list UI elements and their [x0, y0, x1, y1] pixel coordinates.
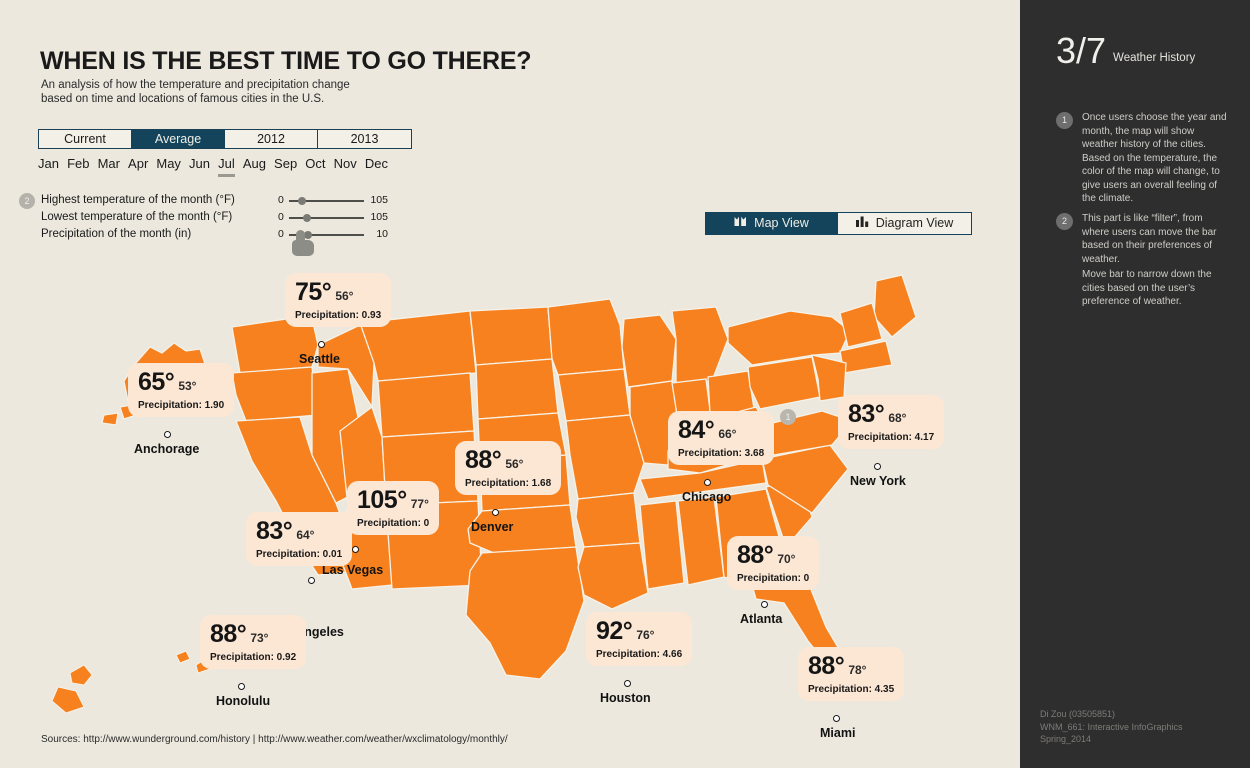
city-low-temp: 76°	[636, 628, 654, 642]
city-marker-dot	[833, 715, 840, 722]
city-new-york[interactable]: 83°68° Precipitation: 4.17 New York	[838, 395, 944, 449]
weather-card[interactable]: 92°76° Precipitation: 4.66	[586, 612, 692, 666]
month-mar[interactable]: Mar	[98, 156, 120, 177]
slider-high-temp-min: 0	[278, 192, 284, 209]
city-high-temp: 88°	[808, 652, 844, 680]
slider-low-temp-max: 105	[370, 209, 388, 226]
slider-low-temp[interactable]: 0 105	[278, 209, 388, 226]
city-marker-dot	[704, 479, 711, 486]
weather-card[interactable]: 83°64° Precipitation: 0.01	[246, 512, 352, 566]
sidebar-note-2: 2 This part is like “filter”, from where…	[1056, 212, 1231, 266]
month-may[interactable]: May	[156, 156, 181, 177]
city-label: Atlanta	[740, 612, 782, 626]
state-wi	[622, 315, 676, 387]
weather-card[interactable]: 105°77° Precipitation: 0	[347, 481, 439, 535]
state-mn	[548, 299, 624, 375]
slider-precipitation-max: 10	[376, 226, 388, 243]
step-badge-1: 1	[780, 409, 796, 425]
state-pa	[748, 357, 820, 409]
city-low-temp: 73°	[250, 631, 268, 645]
card-temps: 88°70°	[737, 543, 809, 568]
state-ms	[640, 501, 684, 589]
city-high-temp: 92°	[596, 617, 632, 645]
city-low-temp: 78°	[848, 663, 866, 677]
city-low-temp: 66°	[718, 427, 736, 441]
state-mo	[566, 415, 644, 499]
note-badge-1: 1	[1056, 112, 1073, 129]
city-precipitation: Precipitation: 0	[357, 518, 429, 529]
state-or	[232, 367, 318, 421]
city-precipitation: Precipitation: 0.01	[256, 549, 342, 560]
slider-high-temp-max: 105	[370, 192, 388, 209]
slider-high-temp-knob[interactable]	[298, 197, 306, 205]
weather-card[interactable]: 88°78° Precipitation: 4.35	[798, 647, 904, 701]
city-seattle[interactable]: 75°56° Precipitation: 0.93 Seattle	[285, 273, 391, 327]
state-mi	[672, 307, 728, 383]
state-ar	[576, 493, 640, 547]
city-high-temp: 83°	[256, 517, 292, 545]
city-low-temp: 77°	[411, 497, 429, 511]
city-label: Chicago	[682, 490, 731, 504]
filter-label-precipitation: Precipitation of the month (in)	[41, 226, 191, 243]
weather-card[interactable]: 75°56° Precipitation: 0.93	[285, 273, 391, 327]
slider-low-temp-track[interactable]	[289, 217, 364, 219]
month-jan[interactable]: Jan	[38, 156, 59, 177]
month-apr[interactable]: Apr	[128, 156, 148, 177]
tab-average[interactable]: Average	[132, 130, 225, 148]
weather-card[interactable]: 88°56° Precipitation: 1.68	[455, 441, 561, 495]
city-anchorage[interactable]: 65°53° Precipitation: 1.90 Anchorage	[128, 363, 234, 417]
city-marker-dot	[164, 431, 171, 438]
tab-diagram-view[interactable]: Diagram View	[837, 213, 971, 234]
weather-card[interactable]: 65°53° Precipitation: 1.90	[128, 363, 234, 417]
month-nov[interactable]: Nov	[334, 156, 357, 177]
note-text-2: This part is like “filter”, from where u…	[1082, 212, 1231, 266]
step-badge-2: 2	[19, 193, 35, 209]
city-low-temp: 56°	[505, 457, 523, 471]
city-precipitation: Precipitation: 1.90	[138, 400, 224, 411]
city-low-temp: 56°	[335, 289, 353, 303]
weather-card[interactable]: 88°73° Precipitation: 0.92	[200, 615, 306, 669]
note-text-3: Move bar to narrow down the cities based…	[1082, 268, 1231, 309]
city-high-temp: 88°	[465, 446, 501, 474]
city-precipitation: Precipitation: 4.66	[596, 649, 682, 660]
state-ia	[558, 369, 630, 421]
view-toggle: Map View Diagram View	[705, 212, 972, 235]
city-low-temp: 68°	[888, 411, 906, 425]
tab-current[interactable]: Current	[39, 130, 132, 148]
filter-label-high-temp: Highest temperature of the month (°F)	[41, 192, 235, 209]
city-chicago[interactable]: 84°66° Precipitation: 3.68 Chicago	[668, 411, 774, 465]
city-houston[interactable]: 92°76° Precipitation: 4.66 Houston	[586, 612, 692, 666]
month-jun[interactable]: Jun	[189, 156, 210, 177]
card-temps: 75°56°	[295, 280, 381, 305]
city-precipitation: Precipitation: 0.93	[295, 310, 381, 321]
city-high-temp: 75°	[295, 278, 331, 306]
card-temps: 83°64°	[256, 519, 342, 544]
sidebar-note-1: 1 Once users choose the year and month, …	[1056, 111, 1231, 206]
page-number: 3/7	[1056, 34, 1106, 67]
city-marker-dot	[318, 341, 325, 348]
state-me	[874, 275, 916, 337]
month-dec[interactable]: Dec	[365, 156, 388, 177]
city-marker-dot	[761, 601, 768, 608]
sources-text: Sources: http://www.wunderground.com/his…	[41, 734, 508, 745]
card-temps: 105°77°	[357, 488, 429, 513]
bar-chart-icon	[856, 213, 869, 234]
card-temps: 92°76°	[596, 619, 682, 644]
card-temps: 83°68°	[848, 402, 934, 427]
sidebar-note-3: Move bar to narrow down the cities based…	[1056, 268, 1231, 309]
slider-high-temp[interactable]: 0 105	[278, 192, 388, 209]
main-panel: WHEN IS THE BEST TIME TO GO THERE? An an…	[0, 0, 1020, 768]
note-badge-3	[1056, 269, 1073, 286]
city-marker-dot	[624, 680, 631, 687]
section-title: Weather History	[1113, 52, 1195, 67]
month-selector: Jan Feb Mar Apr May Jun Jul Aug Sep Oct …	[38, 156, 388, 177]
city-marker-dot	[308, 577, 315, 584]
city-precipitation: Precipitation: 3.68	[678, 448, 764, 459]
city-atlanta[interactable]: 88°70° Precipitation: 0 Atlanta	[727, 536, 819, 590]
mode-tab-bar: Current Average 2012 2013	[38, 129, 412, 149]
city-label: Miami	[820, 726, 855, 740]
month-sep[interactable]: Sep	[274, 156, 297, 177]
city-label: New York	[850, 474, 906, 488]
tab-2012[interactable]: 2012	[225, 130, 318, 148]
city-high-temp: 65°	[138, 368, 174, 396]
city-label: Denver	[471, 520, 513, 534]
state-la	[578, 543, 648, 609]
city-label: Anchorage	[134, 442, 199, 456]
note-text-1: Once users choose the year and month, th…	[1082, 111, 1231, 206]
city-label: Honolulu	[216, 694, 270, 708]
tab-2013[interactable]: 2013	[318, 130, 411, 148]
hand-palm	[292, 240, 314, 256]
weather-card[interactable]: 84°66° Precipitation: 3.68	[668, 411, 774, 465]
state-nd	[470, 307, 552, 365]
weather-card[interactable]: 88°70° Precipitation: 0	[727, 536, 819, 590]
city-precipitation: Precipitation: 4.35	[808, 684, 894, 695]
slider-precipitation-min: 0	[278, 226, 284, 243]
city-high-temp: 83°	[848, 400, 884, 428]
month-oct[interactable]: Oct	[305, 156, 325, 177]
city-label: Seattle	[299, 352, 340, 366]
card-temps: 65°53°	[138, 370, 224, 395]
card-temps: 88°56°	[465, 448, 551, 473]
credits-text: Di Zou (03505851) WNM_661: Interactive I…	[1040, 708, 1183, 746]
tab-map-view-label: Map View	[754, 213, 809, 234]
city-low-temp: 53°	[178, 379, 196, 393]
tab-map-view[interactable]: Map View	[706, 213, 837, 234]
state-sd	[476, 359, 558, 419]
card-temps: 84°66°	[678, 418, 764, 443]
hand-cursor-icon	[292, 230, 316, 256]
state-wy	[378, 373, 474, 437]
month-feb[interactable]: Feb	[67, 156, 89, 177]
city-high-temp: 84°	[678, 416, 714, 444]
city-high-temp: 88°	[210, 620, 246, 648]
city-precipitation: Precipitation: 0.92	[210, 652, 296, 663]
card-temps: 88°78°	[808, 654, 894, 679]
city-marker-dot	[874, 463, 881, 470]
filter-label-low-temp: Lowest temperature of the month (°F)	[41, 209, 232, 226]
city-high-temp: 105°	[357, 486, 407, 514]
city-los-angeles[interactable]: 83°64° Precipitation: 0.01 Los Angeles	[246, 512, 352, 566]
weather-card[interactable]: 83°68° Precipitation: 4.17	[838, 395, 944, 449]
page-title: WHEN IS THE BEST TIME TO GO THERE?	[40, 47, 531, 76]
map-pin-icon	[734, 213, 747, 234]
sidebar-header: 3/7 Weather History	[1056, 34, 1195, 67]
sidebar: 3/7 Weather History 1 Once users choose …	[1020, 0, 1250, 768]
note-badge-2: 2	[1056, 213, 1073, 230]
state-tx	[466, 547, 584, 679]
tab-diagram-view-label: Diagram View	[876, 213, 954, 234]
city-honolulu[interactable]: 88°73° Precipitation: 0.92 Honolulu	[200, 615, 306, 669]
us-map[interactable]: 75°56° Precipitation: 0.93 Seattle 65°53…	[0, 255, 1020, 735]
card-temps: 88°73°	[210, 622, 296, 647]
city-precipitation: Precipitation: 4.17	[848, 432, 934, 443]
city-precipitation: Precipitation: 1.68	[465, 478, 551, 489]
city-low-temp: 64°	[296, 528, 314, 542]
city-miami[interactable]: 88°78° Precipitation: 4.35 Miami	[798, 647, 904, 701]
page-subtitle: An analysis of how the temperature and p…	[41, 79, 350, 106]
city-marker-dot	[492, 509, 499, 516]
month-aug[interactable]: Aug	[243, 156, 266, 177]
city-label: Houston	[600, 691, 651, 705]
city-las-vegas[interactable]: 105°77° Precipitation: 0 Las Vegas	[347, 481, 439, 535]
city-marker-dot	[238, 683, 245, 690]
state-ny	[728, 311, 850, 365]
slider-low-temp-min: 0	[278, 209, 284, 226]
city-low-temp: 70°	[777, 552, 795, 566]
city-precipitation: Precipitation: 0	[737, 573, 809, 584]
city-high-temp: 88°	[737, 541, 773, 569]
month-jul[interactable]: Jul	[218, 156, 235, 177]
state-hi	[52, 651, 210, 713]
city-marker-dot	[352, 546, 359, 553]
slider-low-temp-knob[interactable]	[303, 214, 311, 222]
city-denver[interactable]: 88°56° Precipitation: 1.68 Denver	[455, 441, 561, 495]
